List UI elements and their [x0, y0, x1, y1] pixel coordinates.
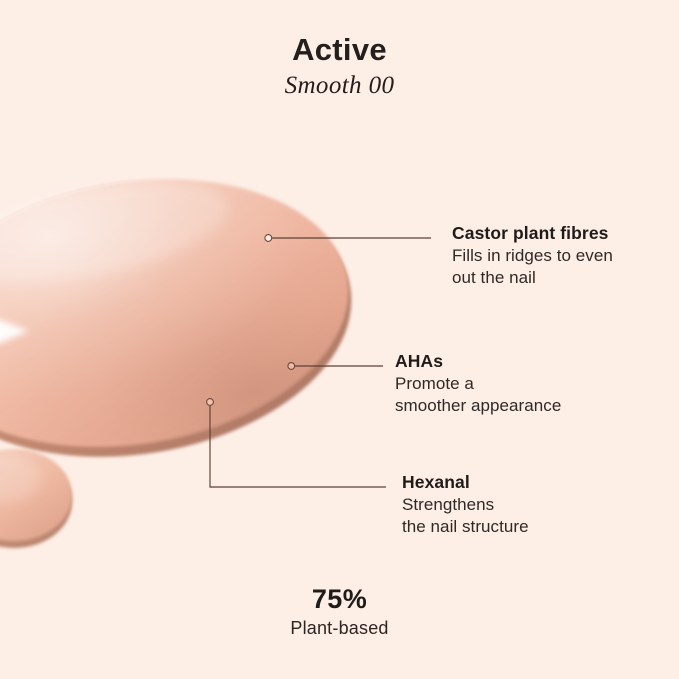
- page-title: Active: [0, 32, 679, 68]
- header: Active Smooth 00: [0, 32, 679, 101]
- callout-title: AHAs: [395, 350, 561, 373]
- callout-castor-plant-fibres: Castor plant fibres Fills in ridges to e…: [452, 222, 613, 290]
- connector-castor-plant-fibres: [265, 235, 431, 242]
- connector-ahas: [288, 363, 383, 370]
- callout-body: Fills in ridges to even out the nail: [452, 245, 613, 290]
- callout-title: Hexanal: [402, 471, 529, 494]
- product-infographic: Active Smooth 00 Castor plant fibres Fil…: [0, 0, 679, 679]
- footer: 75% Plant-based: [0, 584, 679, 640]
- callout-title: Castor plant fibres: [452, 222, 613, 245]
- plant-based-percentage: 75%: [0, 584, 679, 615]
- callout-body: Promote a smoother appearance: [395, 373, 561, 418]
- page-subtitle: Smooth 00: [0, 71, 679, 101]
- callout-body: Strengthens the nail structure: [402, 494, 529, 539]
- gloss-highlight-icon: [0, 307, 29, 355]
- plant-based-label: Plant-based: [0, 617, 679, 640]
- droplet-small-icon: [0, 449, 72, 548]
- connector-hexanal: [207, 399, 386, 487]
- artwork-canvas: [0, 0, 679, 679]
- callout-hexanal: Hexanal Strengthens the nail structure: [402, 471, 529, 539]
- droplet-large-icon: [0, 150, 371, 487]
- callout-ahas: AHAs Promote a smoother appearance: [395, 350, 561, 418]
